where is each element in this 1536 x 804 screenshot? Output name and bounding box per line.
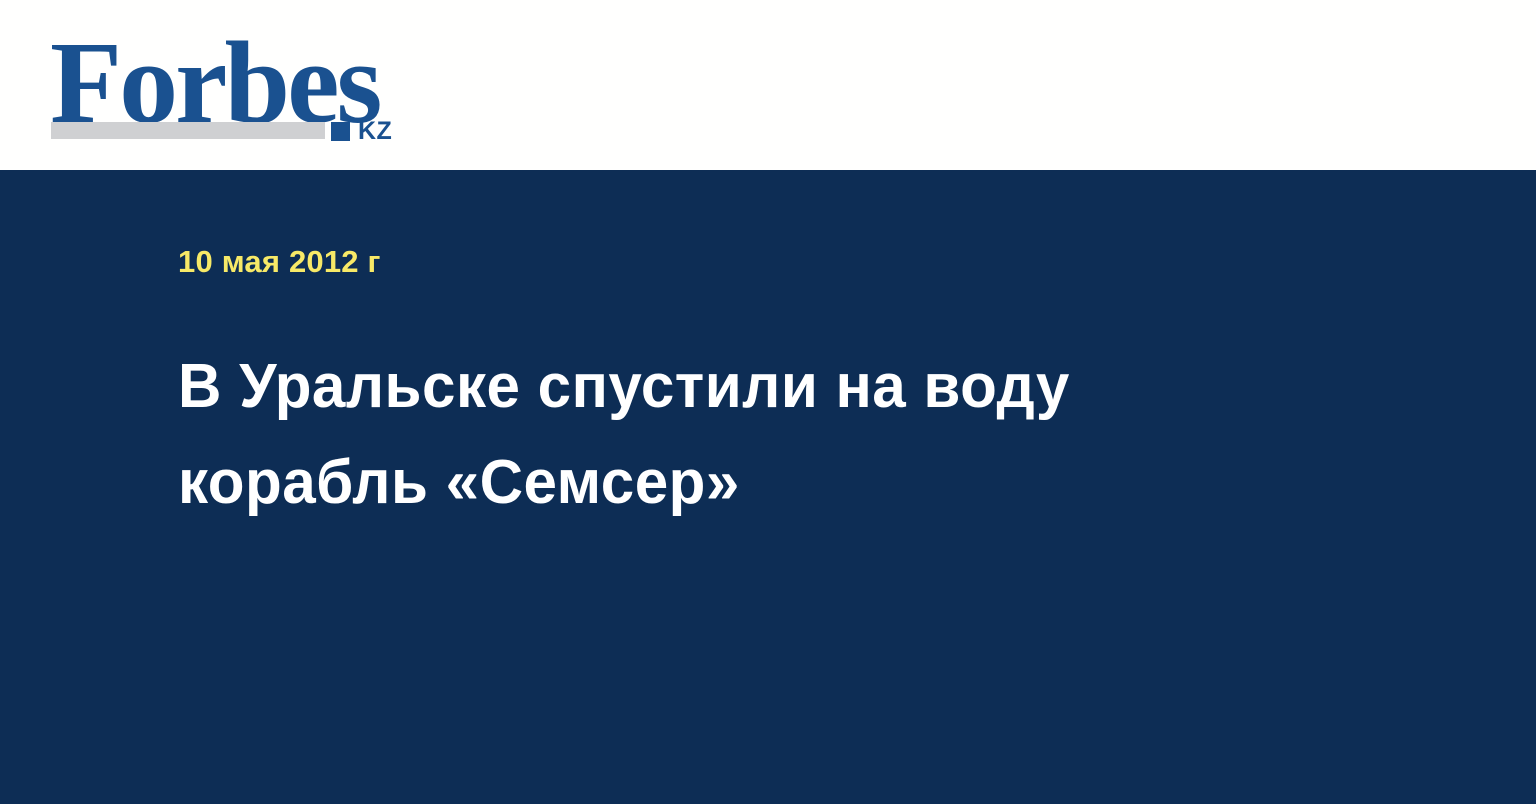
brand-square-icon	[331, 122, 350, 141]
site-header: Forbes kz	[0, 0, 1536, 170]
article-header-block: 10 мая 2012 г В Уральске спустили на вод…	[178, 245, 1278, 531]
logo-tld-group: kz	[331, 119, 392, 144]
logo-tld-label: kz	[358, 119, 392, 144]
logo-rule-divider	[51, 122, 325, 139]
article-hero-panel: 10 мая 2012 г В Уральске спустили на вод…	[0, 170, 1536, 804]
article-date: 10 мая 2012 г	[178, 245, 1278, 279]
article-page: Forbes kz 10 мая 2012 г В Уральске спуст…	[0, 0, 1536, 804]
forbes-kz-logo[interactable]: Forbes kz	[50, 24, 410, 144]
article-title: В Уральске спустили на воду корабль «Сем…	[178, 339, 1158, 531]
